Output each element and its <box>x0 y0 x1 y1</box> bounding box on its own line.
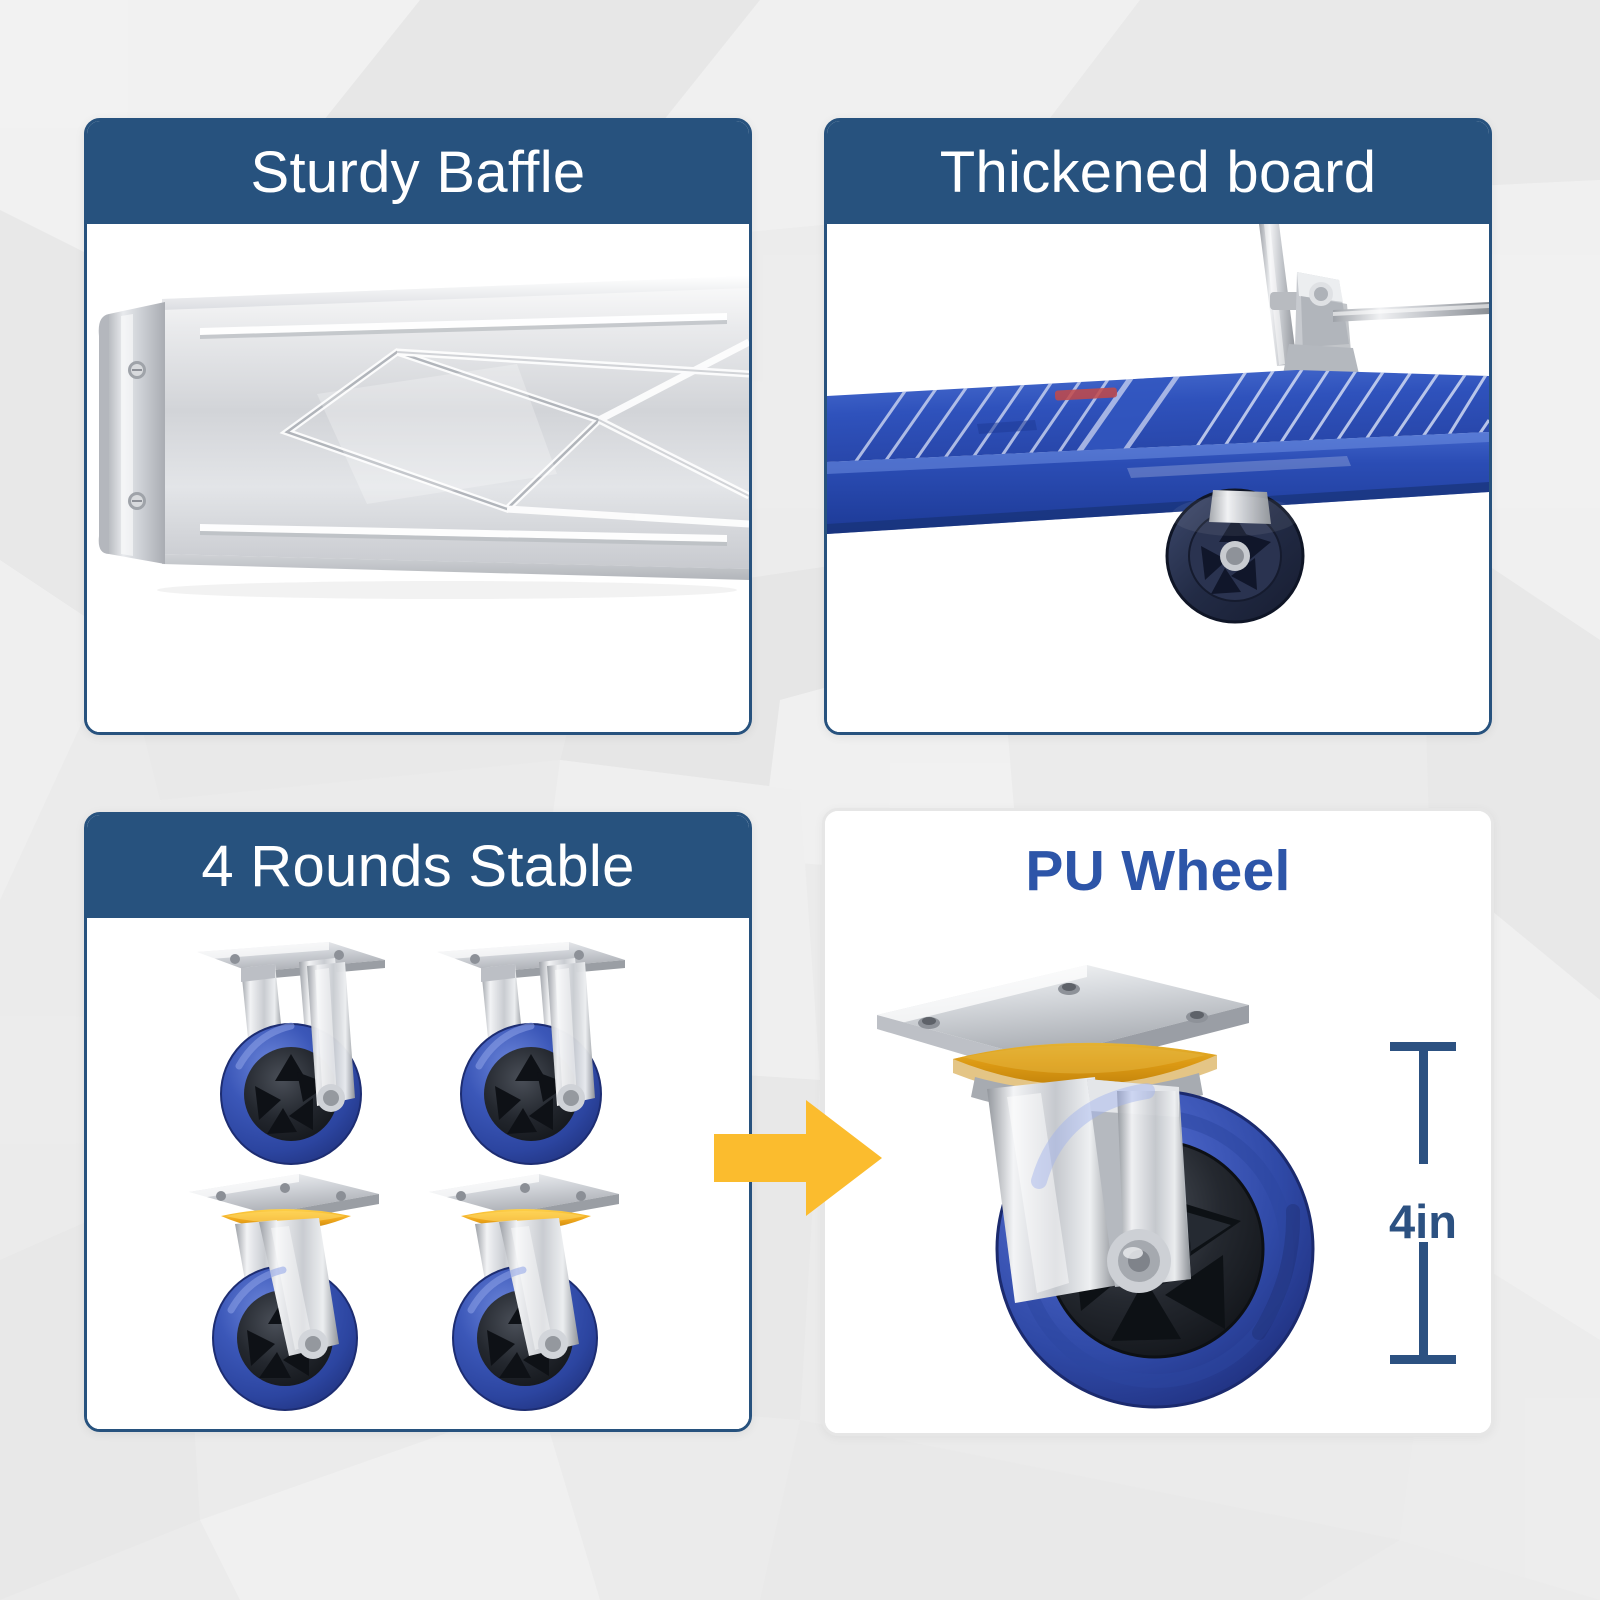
panel-image-4-rounds-stable <box>87 918 749 1429</box>
cart-wheel <box>1167 490 1303 622</box>
panel-title-4-rounds-stable: 4 Rounds Stable <box>87 815 749 918</box>
panel-4-rounds-stable: 4 Rounds Stable <box>84 812 752 1432</box>
panel-title-sturdy-baffle: Sturdy Baffle <box>87 121 749 224</box>
panel-image-sturdy-baffle <box>87 224 749 732</box>
panel-sturdy-baffle: Sturdy Baffle <box>84 118 752 735</box>
dimension-indicator-4in: 4in <box>1368 1038 1478 1368</box>
panel-title-pu-wheel: PU Wheel <box>825 811 1491 931</box>
dimension-value-label: 4in <box>1368 1198 1478 1245</box>
panel-image-thickened-board <box>827 224 1489 732</box>
arrow-right-icon <box>714 1098 882 1218</box>
panel-thickened-board: Thickened board <box>824 118 1492 735</box>
infographic-canvas: Sturdy Baffle <box>0 0 1600 1600</box>
bracket-screw-top <box>128 361 146 379</box>
panel-title-thickened-board: Thickened board <box>827 121 1489 224</box>
bracket-screw-bottom <box>128 492 146 510</box>
